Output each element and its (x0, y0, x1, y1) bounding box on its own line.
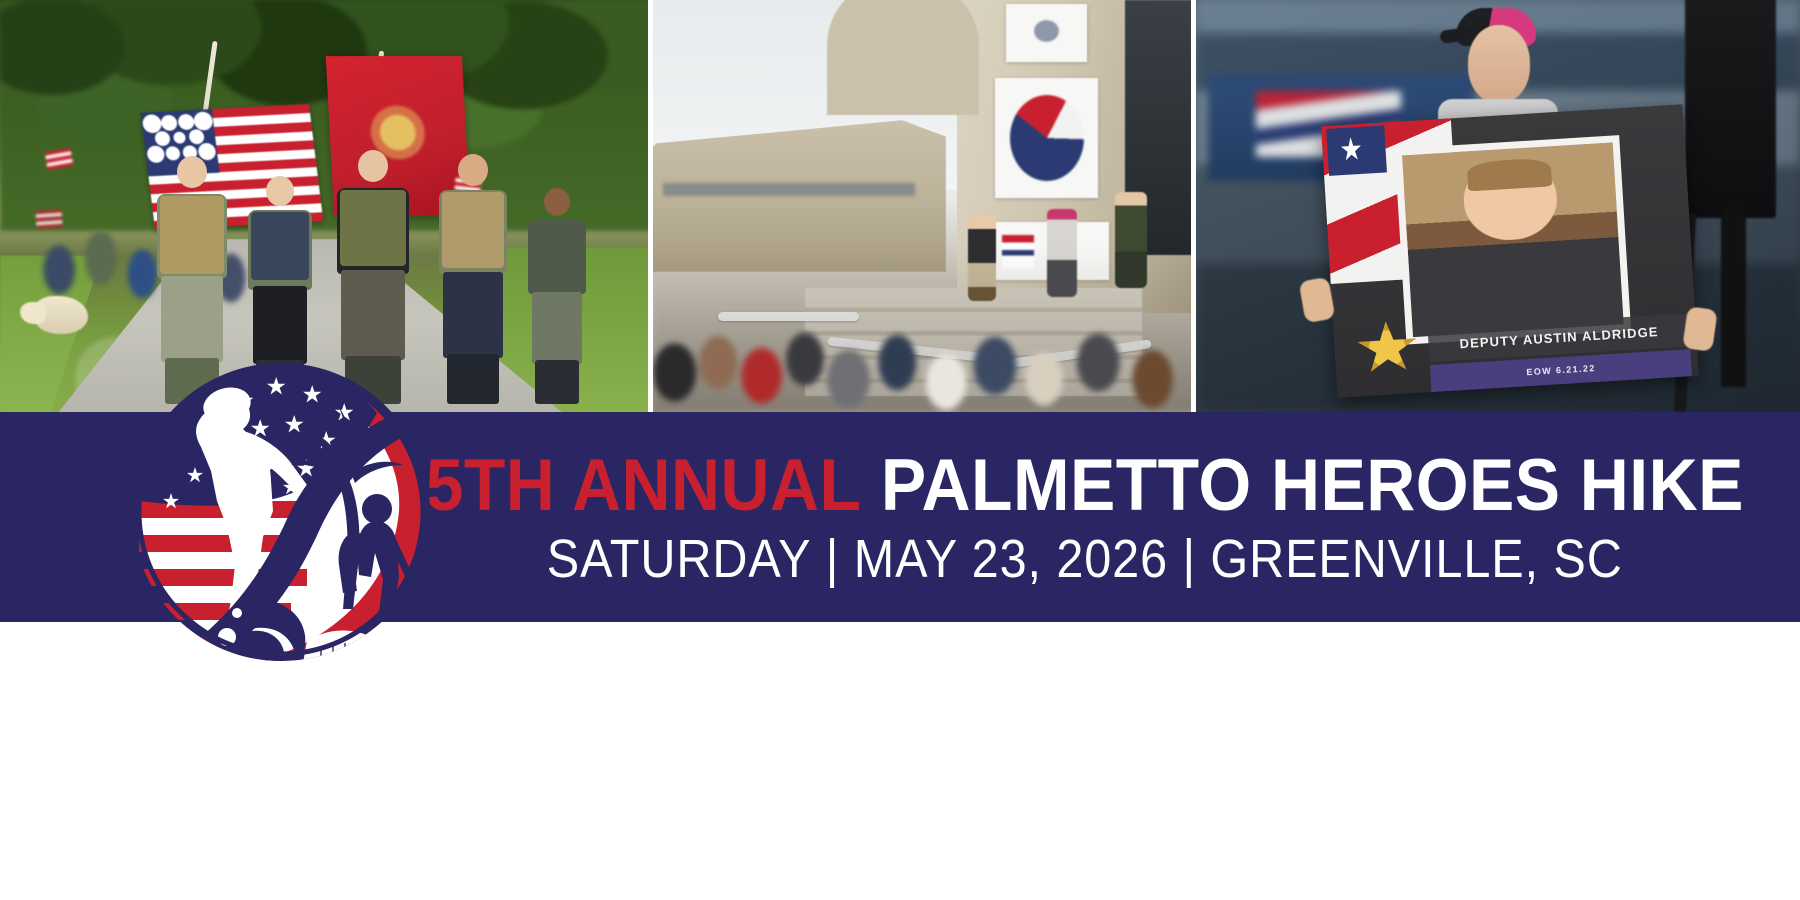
event-day: SATURDAY (547, 529, 812, 589)
service-dog (34, 296, 88, 334)
event-headline: 5TH ANNUAL PALMETTO HEROES HIKE (426, 449, 1744, 522)
memorial-name-text: DEPUTY AUSTIN ALDRIDGE (1459, 325, 1659, 352)
separator: | (1168, 529, 1210, 589)
palmetto-heroes-hike-banner (995, 78, 1098, 197)
hiker-figure (432, 154, 514, 406)
photo-memorial-portrait: DEPUTY AUSTIN ALDRIDGE EOW 6.21.22 (1196, 0, 1800, 412)
woman-face (1468, 25, 1530, 103)
microphone-stand (1721, 206, 1745, 387)
memorial-eow-text: EOW 6.21.22 (1526, 364, 1596, 378)
audience-crowd (653, 247, 1196, 412)
hiker-figure (524, 188, 590, 406)
headline-edition: 5TH ANNUAL (426, 445, 862, 526)
memorial-sign: DEPUTY AUSTIN ALDRIDGE EOW 6.21.22 (1321, 105, 1699, 399)
eagle-banner (1006, 4, 1087, 62)
pa-speaker (1685, 0, 1776, 218)
banner-page: DEPUTY AUSTIN ALDRIDGE EOW 6.21.22 5TH A… (0, 0, 1800, 900)
event-location: GREENVILLE, SC (1211, 529, 1623, 589)
column-arch (827, 0, 979, 115)
banner-text-block: 5TH ANNUAL PALMETTO HEROES HIKE SATURDAY… (430, 412, 1740, 622)
event-date: MAY 23, 2026 (854, 529, 1168, 589)
photo-opening-ceremony (653, 0, 1196, 412)
event-subline: SATURDAY|MAY 23, 2026|GREENVILLE, SC (547, 532, 1623, 586)
separator: | (812, 529, 854, 589)
small-flag-icon (35, 209, 62, 229)
deputy-portrait-photo (1395, 136, 1631, 345)
palmetto-heroes-hike-logo (131, 351, 431, 673)
headline-title: PALMETTO HEROES HIKE (881, 445, 1744, 526)
